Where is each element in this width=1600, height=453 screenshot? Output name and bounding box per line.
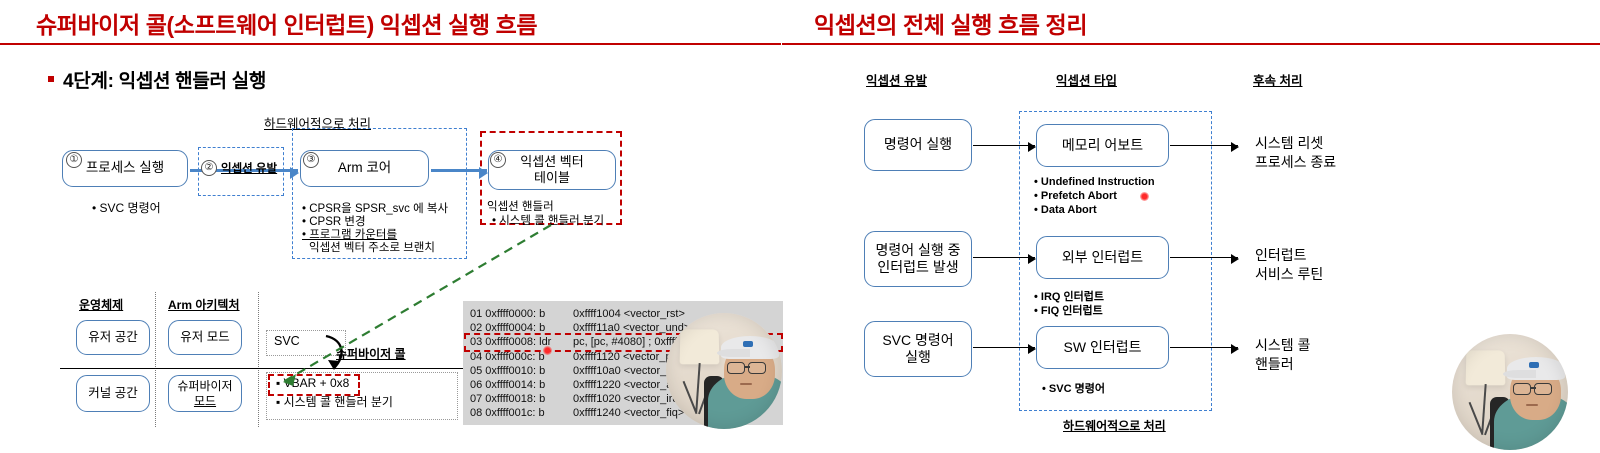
arrow-type-to-followup-2 — [1170, 257, 1238, 258]
arrow-type-to-followup-3 — [1170, 347, 1238, 348]
vector-table-line-1: 익셉션 벡터 — [520, 154, 583, 170]
arch-column-header: Arm 아키텍처 — [168, 296, 240, 313]
step-heading: 4단계: 익셉션 핸들러 실행 — [48, 66, 266, 93]
arrow-trigger-to-type-2 — [973, 257, 1035, 258]
box-type-memory-abort[interactable]: 메모리 어보트 — [1036, 124, 1169, 167]
laser-pointer-dot-code — [543, 346, 552, 355]
code-address: 01 0xffff0000: b — [470, 307, 573, 321]
trigger-3-line-1: SVC 명령어 — [882, 332, 953, 349]
step-number-2: ② — [201, 160, 217, 176]
supervisor-mode-line-1: 슈퍼바이저 — [177, 379, 232, 394]
table-divider-2 — [258, 292, 259, 427]
laser-pointer-dot-right — [1140, 192, 1149, 201]
followup-2-line-2: 서비스 루틴 — [1255, 264, 1323, 284]
left-title-rule — [0, 43, 781, 45]
box-exception-vector-table[interactable]: 익셉션 벡터 테이블 — [488, 150, 616, 190]
table-divider-1 — [155, 292, 156, 427]
right-title-rule — [782, 43, 1600, 45]
box-trigger-svc-instruction[interactable]: SVC 명령어 실행 — [864, 321, 972, 377]
external-interrupt-note-2: • FIQ 인터럽트 — [1034, 302, 1103, 318]
arrow-core-to-vector-table — [431, 169, 487, 172]
code-address: 05 0xffff0010: b — [470, 364, 573, 378]
box-user-space[interactable]: 유저 공간 — [76, 320, 150, 355]
followup-2-line-1: 인터럽트 — [1255, 245, 1307, 265]
left-slide-title: 슈퍼바이저 콜(소프트웨어 인터럽트) 익셉션 실행 흐름 — [36, 6, 537, 40]
vector-table-line-2: 테이블 — [534, 170, 570, 186]
memory-abort-note-3: • Data Abort — [1034, 204, 1097, 216]
arrow-trigger-to-type-1 — [973, 145, 1035, 146]
presenter-webcam-right — [1452, 334, 1568, 450]
step-number-4: ④ — [490, 152, 506, 168]
hardware-processing-label-right: 하드웨어적으로 처리 — [1063, 417, 1166, 434]
bullet-square-icon — [48, 76, 54, 82]
presenter-webcam-left — [666, 313, 782, 429]
box-supervisor-mode[interactable]: 슈퍼바이저 모드 — [168, 375, 242, 412]
svc-label: SVC — [274, 334, 300, 348]
arrow-trigger-to-type-3 — [973, 347, 1035, 348]
followup-3-line-2: 핸들러 — [1255, 354, 1294, 374]
column-header-type: 익셉션 타입 — [1056, 70, 1117, 89]
trigger-2-line-1: 명령어 실행 중 — [875, 242, 960, 259]
box-type-external-interrupt[interactable]: 외부 인터럽트 — [1036, 236, 1169, 279]
memory-abort-note-2: • Prefetch Abort — [1034, 190, 1117, 202]
followup-3-line-1: 시스템 콜 — [1255, 335, 1310, 355]
supervisor-call-label: 슈퍼바이저 콜 — [336, 345, 406, 362]
os-column-header: 운영체제 — [79, 296, 123, 313]
code-address: 07 0xffff0018: b — [470, 392, 573, 406]
column-header-trigger: 익셉션 유발 — [866, 70, 927, 89]
process-execution-note: • SVC 명령어 — [92, 199, 161, 216]
code-address: 06 0xffff0014: b — [470, 378, 573, 392]
vbar-highlight-region — [268, 374, 360, 396]
slide-canvas: 슈퍼바이저 콜(소프트웨어 인터럽트) 익셉션 실행 흐름 익셉션의 전체 실행… — [0, 0, 1600, 453]
exception-handler-note-2: • 시스템 콜 핸들러 분기 — [492, 212, 604, 228]
followup-1-line-1: 시스템 리셋 — [1255, 133, 1323, 153]
step-number-1: ① — [66, 152, 82, 168]
code-address: 08 0xffff001c: b — [470, 406, 573, 420]
box-trigger-interrupt-during-execution[interactable]: 명령어 실행 중 인터럽트 발생 — [864, 231, 972, 287]
step-number-3: ③ — [303, 152, 319, 168]
step-heading-text: 4단계: 익셉션 핸들러 실행 — [63, 71, 266, 92]
trigger-2-line-2: 인터럽트 발생 — [877, 259, 958, 276]
box-kernel-space[interactable]: 커널 공간 — [76, 375, 150, 412]
supervisor-mode-line-2: 모드 — [194, 394, 216, 409]
box-user-mode[interactable]: 유저 모드 — [168, 320, 242, 355]
arrow-type-to-followup-1 — [1170, 145, 1238, 146]
followup-1-line-2: 프로세스 종료 — [1255, 152, 1336, 172]
arm-core-note-4: 익셉션 벡터 주소로 브랜치 — [309, 239, 435, 255]
box-type-sw-interrupt[interactable]: SW 인터럽트 — [1036, 326, 1169, 369]
box-trigger-instruction-execution[interactable]: 명령어 실행 — [864, 119, 972, 171]
memory-abort-note-1: • Undefined Instruction — [1034, 176, 1155, 188]
right-slide-title: 익셉션의 전체 실행 흐름 정리 — [814, 6, 1087, 40]
user-kernel-boundary-line — [60, 368, 530, 369]
trigger-3-line-2: 실행 — [905, 349, 931, 366]
box-arm-core[interactable]: Arm 코어 — [300, 150, 429, 187]
sw-interrupt-note-1: • SVC 명령어 — [1042, 380, 1105, 396]
exception-trigger-label: 익셉션 유발 — [221, 160, 277, 176]
column-header-followup: 후속 처리 — [1253, 70, 1302, 89]
